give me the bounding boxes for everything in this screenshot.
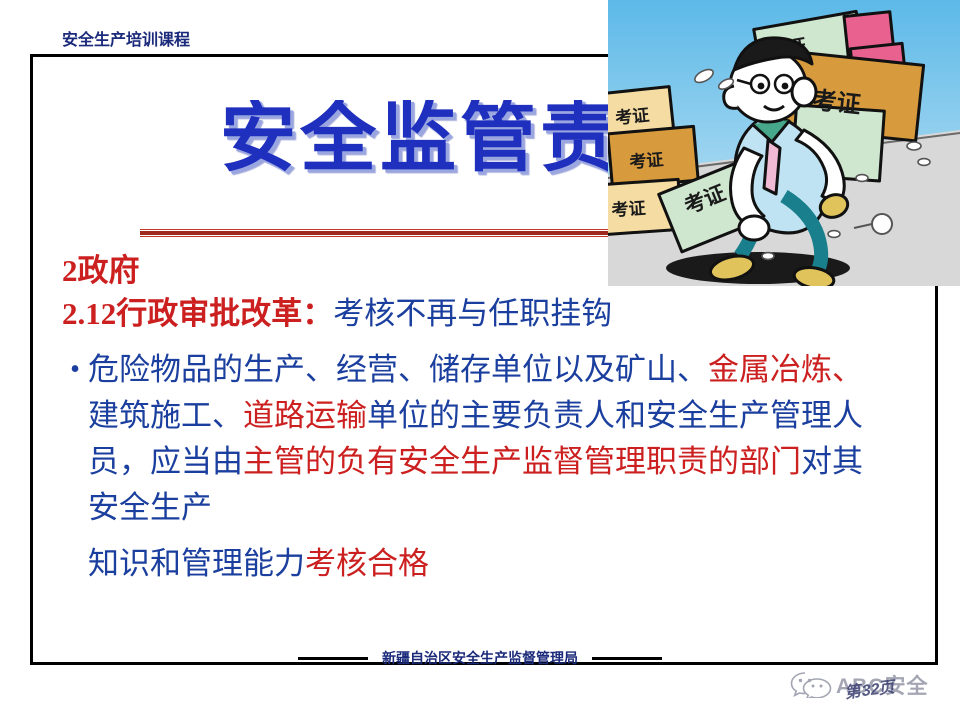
- footer-rule-right: [592, 657, 662, 660]
- board-label: 考证: [610, 198, 646, 220]
- rule-line-thin-bottom: [140, 236, 640, 237]
- wechat-icon: [790, 670, 832, 698]
- footer-rule-left: [298, 657, 368, 660]
- rule-line-thick: [140, 231, 640, 235]
- bullet-last-line: 知识和管理能力考核合格: [88, 541, 892, 587]
- bullet-run-2: 建筑施工、: [88, 398, 243, 433]
- subsection-number: 2.12: [62, 296, 116, 331]
- footer-organization-label: 新疆自治区安全生产监督管理局: [382, 648, 578, 668]
- cartoon-illustration: 考证 考证 考证 考证 考证 考证: [608, 0, 960, 286]
- subsection-heading: 2.12行政审批改革：考核不再与任职挂钩: [62, 292, 892, 337]
- rule-line-thin-top: [140, 229, 640, 230]
- bullet-run-5: 主管的负有安全生产监督管理职责的部门: [243, 444, 801, 479]
- board-label: 考证: [811, 87, 862, 119]
- board-label: 考证: [628, 149, 665, 172]
- bullet-run-0: 危险物品的生产、经营、储存单位以及矿山、: [88, 352, 708, 387]
- bullet-item: • 危险物品的生产、经营、储存单位以及矿山、金属冶炼、建筑施工、道路运输单位的主…: [62, 347, 892, 587]
- bullet-last-run-0: 知识和管理能力: [88, 546, 305, 581]
- cartoon-svg: 考证 考证 考证 考证 考证 考证: [608, 0, 960, 286]
- bullet-last-run-1: 考核合格: [305, 546, 429, 581]
- bullet-run-1: 金属冶炼、: [708, 352, 863, 387]
- board-label: 考证: [613, 105, 650, 129]
- subsection-title-blue: 考核不再与任职挂钩: [333, 296, 612, 331]
- presentation-slide: 安全生产培训课程 安全监管责任 2政府 2.12行政审批改革：考核不再与任职挂钩…: [0, 0, 960, 720]
- bullet-paragraph: 危险物品的生产、经营、储存单位以及矿山、金属冶炼、建筑施工、道路运输单位的主要负…: [88, 347, 892, 587]
- slide-body: 2政府 2.12行政审批改革：考核不再与任职挂钩 • 危险物品的生产、经营、储存…: [62, 250, 892, 587]
- bullet-run-3: 道路运输: [243, 398, 367, 433]
- title-underline-rule: [140, 229, 640, 238]
- course-header-label: 安全生产培训课程: [62, 26, 190, 50]
- subsection-title-red: 行政审批改革：: [116, 296, 333, 331]
- bullet-segment-host: 危险物品的生产、经营、储存单位以及矿山、金属冶炼、建筑施工、道路运输单位的主要负…: [88, 352, 863, 525]
- bullet-marker-icon: •: [62, 347, 88, 393]
